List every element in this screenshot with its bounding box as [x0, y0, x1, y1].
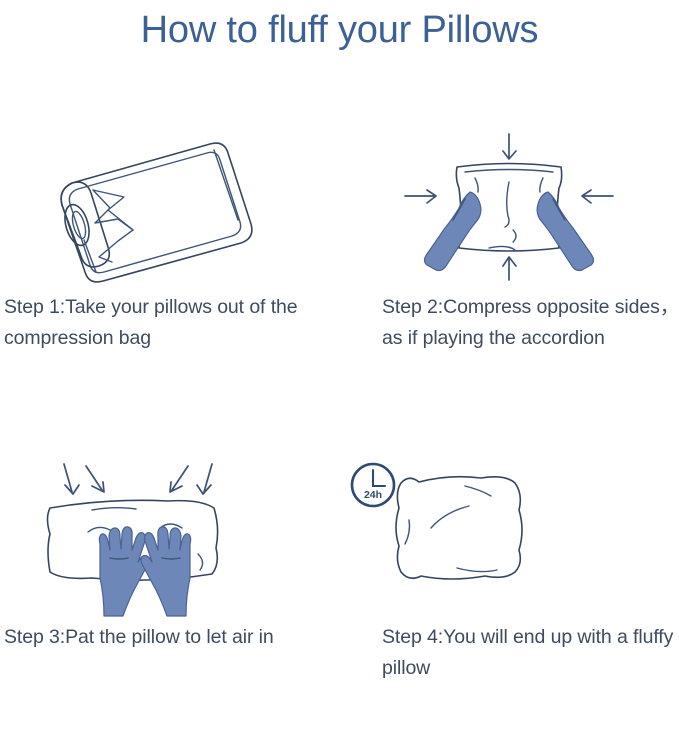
step-4-caption: Step 4:You will end up with a fluffy pil…: [382, 622, 679, 684]
step-1-caption: Step 1:Take your pillows out of the comp…: [4, 292, 314, 354]
arrow-down-icon: [503, 134, 516, 159]
hands-patting-pillow-illustration: [0, 450, 340, 620]
arrow-down-icon-1: [64, 464, 79, 494]
vacuum-bag-outline: [61, 143, 252, 282]
right-patting-hand: [141, 527, 191, 616]
step-card-2: Step 2:Compress opposite sides，as if pla…: [339, 120, 679, 408]
badge-label: 24h: [364, 489, 382, 501]
right-hand: [537, 192, 593, 271]
fluffy-pillow-outline: [396, 477, 522, 579]
arrow-down-icon-2: [86, 466, 104, 492]
arrow-down-icon-4: [197, 464, 212, 494]
arrow-left-icon: [582, 190, 613, 203]
step-3-caption: Step 3:Pat the pillow to let air in: [4, 622, 314, 653]
hands-compressing-pillow-sides-illustration: [339, 120, 679, 290]
step-2-caption: Step 2:Compress opposite sides，as if pla…: [382, 292, 679, 354]
downward-arrows-group: [64, 464, 212, 494]
arrow-right-icon: [405, 190, 436, 203]
fluffy-pillow-with-24h-badge-illustration: 24h: [339, 450, 679, 620]
step-card-3: Step 3:Pat the pillow to let air in: [0, 450, 340, 738]
pillow-crease-lines: [475, 178, 543, 242]
pillow-fluffing-infographic: How to fluff your Pillows: [0, 0, 679, 696]
24h-clock-badge: 24h: [352, 464, 394, 506]
compressed-pillow-in-vacuum-bag-illustration: [0, 120, 340, 290]
page-title: How to fluff your Pillows: [0, 2, 679, 58]
arrow-down-icon-3: [170, 466, 188, 492]
left-hand: [425, 192, 481, 271]
pillow-crease-lines: [405, 486, 497, 572]
step-card-4: 24h Step 4:You will end up with a fluffy…: [339, 450, 679, 738]
arrow-up-icon: [503, 257, 516, 280]
left-patting-hand: [99, 527, 149, 616]
steps-grid: Step 1:Take your pillows out of the comp…: [0, 120, 679, 696]
chevron-arrow-icon: [93, 190, 133, 262]
step-card-1: Step 1:Take your pillows out of the comp…: [0, 120, 340, 408]
